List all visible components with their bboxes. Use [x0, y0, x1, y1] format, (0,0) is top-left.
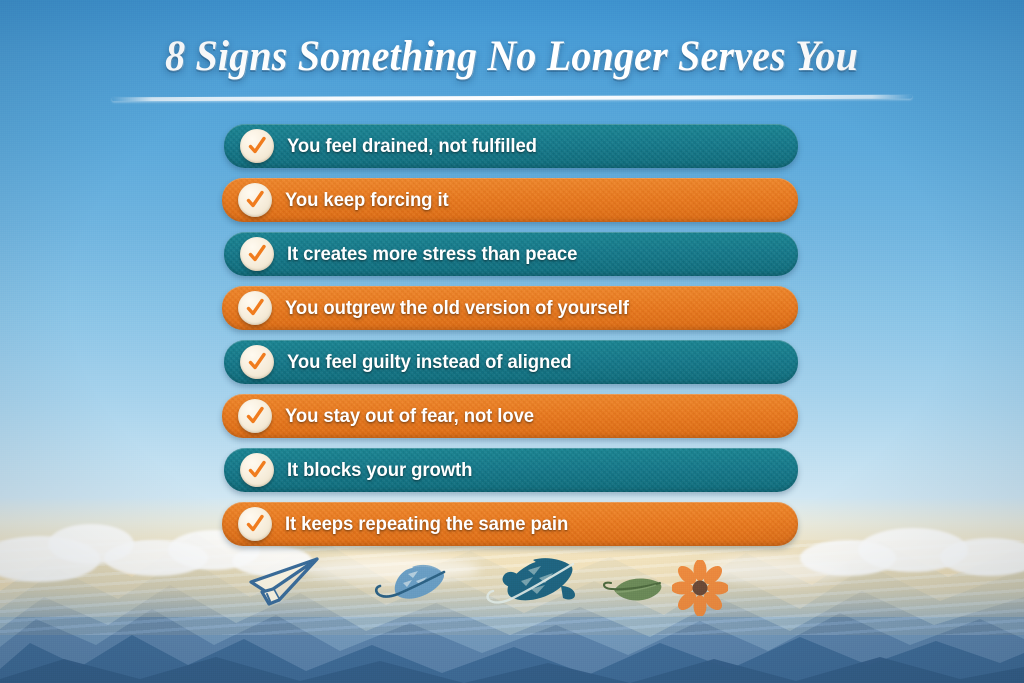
sign-label: You feel guilty instead of aligned	[287, 351, 589, 374]
sign-label: You keep forcing it	[285, 189, 466, 212]
infographic-canvas: 8 Signs Something No Longer Serves You Y…	[0, 0, 1024, 683]
sign-label: You stay out of fear, not love	[285, 405, 551, 428]
check-circle-icon	[240, 345, 274, 379]
signs-list: You feel drained, not fulfilledYou keep …	[0, 124, 1024, 556]
paper-plane-icon	[248, 556, 322, 608]
sign-pill-7[interactable]: It blocks your growth	[224, 448, 798, 492]
title-area: 8 Signs Something No Longer Serves You	[0, 32, 1024, 81]
check-circle-icon	[238, 399, 272, 433]
list-item: It keeps repeating the same pain	[0, 502, 1024, 546]
sign-pill-8[interactable]: It keeps repeating the same pain	[222, 502, 798, 546]
sign-pill-5[interactable]: You feel guilty instead of aligned	[224, 340, 798, 384]
check-circle-icon	[240, 453, 274, 487]
sign-pill-1[interactable]: You feel drained, not fulfilled	[224, 124, 798, 168]
check-circle-icon	[238, 291, 272, 325]
sign-pill-4[interactable]: You outgrew the old version of yourself	[222, 286, 798, 330]
sign-label: It creates more stress than peace	[287, 243, 594, 266]
list-item: You outgrew the old version of yourself	[0, 286, 1024, 330]
check-circle-icon	[238, 183, 272, 217]
check-circle-icon	[240, 129, 274, 163]
feather-light-icon	[372, 562, 450, 610]
list-item: It blocks your growth	[0, 448, 1024, 492]
sign-label: You feel drained, not fulfilled	[287, 135, 554, 158]
sign-pill-2[interactable]: You keep forcing it	[222, 178, 798, 222]
page-title: 8 Signs Something No Longer Serves You	[166, 32, 859, 81]
sign-pill-3[interactable]: It creates more stress than peace	[224, 232, 798, 276]
feather-dark-icon	[483, 556, 579, 614]
list-item: You stay out of fear, not love	[0, 394, 1024, 438]
list-item: You feel drained, not fulfilled	[0, 124, 1024, 168]
list-item: You keep forcing it	[0, 178, 1024, 222]
flower-icon	[672, 560, 728, 616]
list-item: It creates more stress than peace	[0, 232, 1024, 276]
decorative-icon-row	[0, 552, 1024, 622]
sign-pill-6[interactable]: You stay out of fear, not love	[222, 394, 798, 438]
sign-label: It blocks your growth	[287, 459, 489, 482]
sign-label: You outgrew the old version of yourself	[285, 297, 646, 320]
check-circle-icon	[238, 507, 272, 541]
check-circle-icon	[240, 237, 274, 271]
sign-label: It keeps repeating the same pain	[285, 513, 585, 536]
list-item: You feel guilty instead of aligned	[0, 340, 1024, 384]
leaf-icon	[600, 572, 668, 606]
